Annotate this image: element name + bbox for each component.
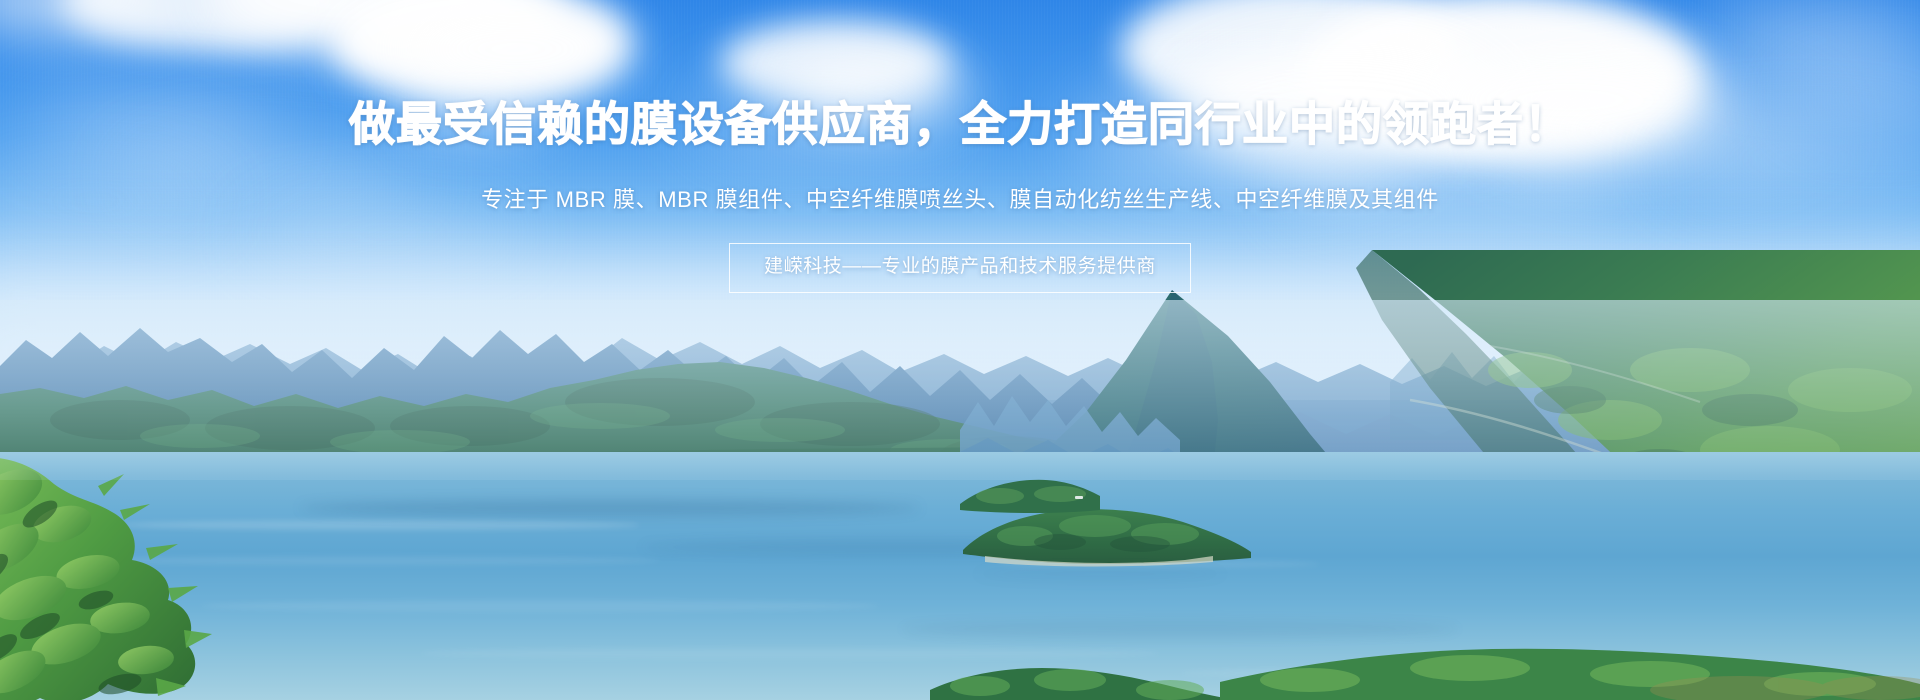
- island-reflection: [975, 566, 1225, 582]
- banner-headline: 做最受信赖的膜设备供应商，全力打造同行业中的领跑者！: [0, 99, 1920, 149]
- bottom-shore-trees: [930, 660, 1260, 700]
- boat: [1075, 496, 1083, 499]
- small-left-island: [960, 470, 1100, 520]
- hero-banner: 做最受信赖的膜设备供应商，全力打造同行业中的领跑者！ 专注于 MBR 膜、MBR…: [0, 0, 1920, 700]
- banner-subline: 专注于 MBR 膜、MBR 膜组件、中空纤维膜喷丝头、膜自动化纺丝生产线、中空纤…: [0, 185, 1920, 215]
- banner-tagline-box: 建嵘科技——专业的膜产品和技术服务提供商: [729, 243, 1191, 293]
- bottom-right-shore: [1220, 640, 1920, 700]
- foreground-foliage: [0, 440, 330, 700]
